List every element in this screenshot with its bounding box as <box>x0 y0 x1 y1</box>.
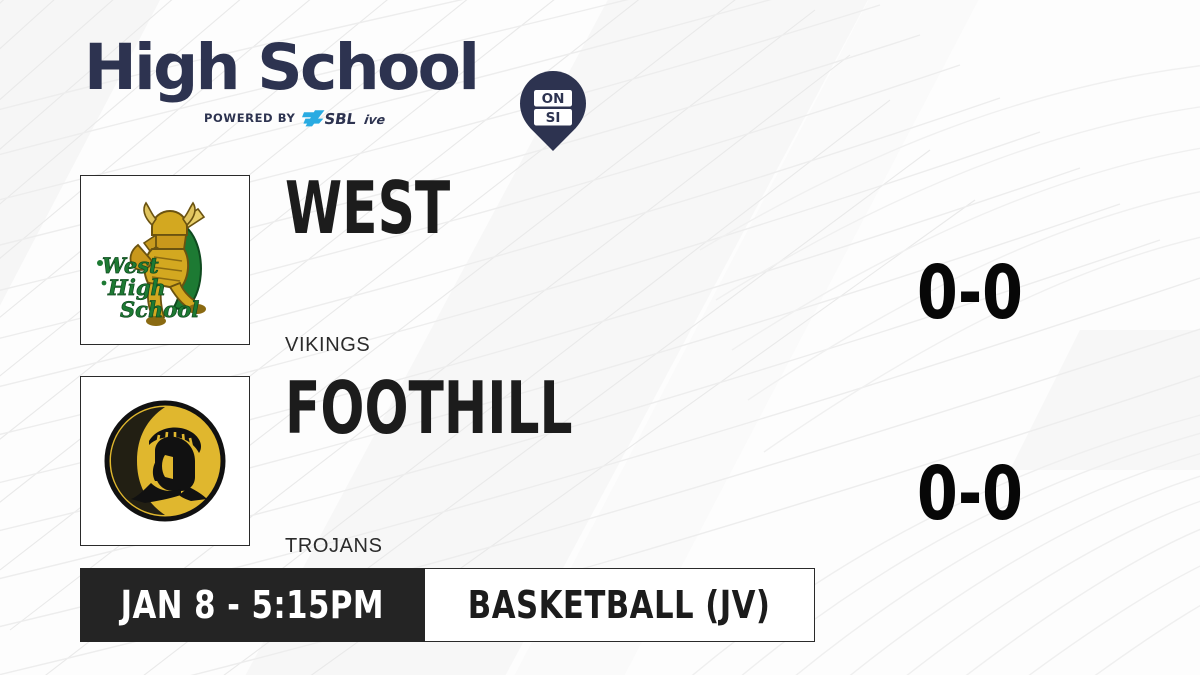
team-score: 0-0 <box>891 256 1049 330</box>
team-logo-foothill-trojans <box>80 376 250 546</box>
game-datetime-block: JAN 8 - 5:15PM <box>80 568 425 642</box>
svg-text:SI: SI <box>546 110 561 126</box>
team-logo-west-vikings: West High School <box>80 175 250 345</box>
team-name: FOOTHILL <box>285 372 573 444</box>
game-sport-label: BASKETBALL (JV) <box>468 586 771 624</box>
game-sport-block: BASKETBALL (JV) <box>425 568 815 642</box>
powered-by-label: POWERED BY <box>204 111 295 125</box>
game-datetime-label: JAN 8 - 5:15PM <box>121 586 384 624</box>
on-si-pin-icon: ON SI <box>518 70 588 152</box>
svg-text:ON: ON <box>542 91 565 107</box>
brand-header: High School ON SI POWERED BY <box>84 36 504 136</box>
team-name: WEST <box>285 172 450 244</box>
west-vikings-logo: West High School <box>90 185 240 335</box>
foothill-trojans-logo <box>103 399 227 523</box>
brand-title: High School <box>84 36 504 100</box>
svg-text:ive: ive <box>364 112 388 127</box>
sblive-bolt-icon: SBL ive <box>302 109 410 128</box>
powered-by-row: POWERED BY SBL ive <box>204 108 410 128</box>
matchup-graphic: High School ON SI POWERED BY <box>0 0 1200 675</box>
team-score: 0-0 <box>891 457 1049 531</box>
game-info-banner: JAN 8 - 5:15PM BASKETBALL (JV) <box>80 568 815 642</box>
team-mascot: TROJANS <box>285 536 383 556</box>
team-mascot: VIKINGS <box>285 335 370 355</box>
svg-text:SBL: SBL <box>323 110 358 128</box>
svg-text:School: School <box>120 297 199 322</box>
